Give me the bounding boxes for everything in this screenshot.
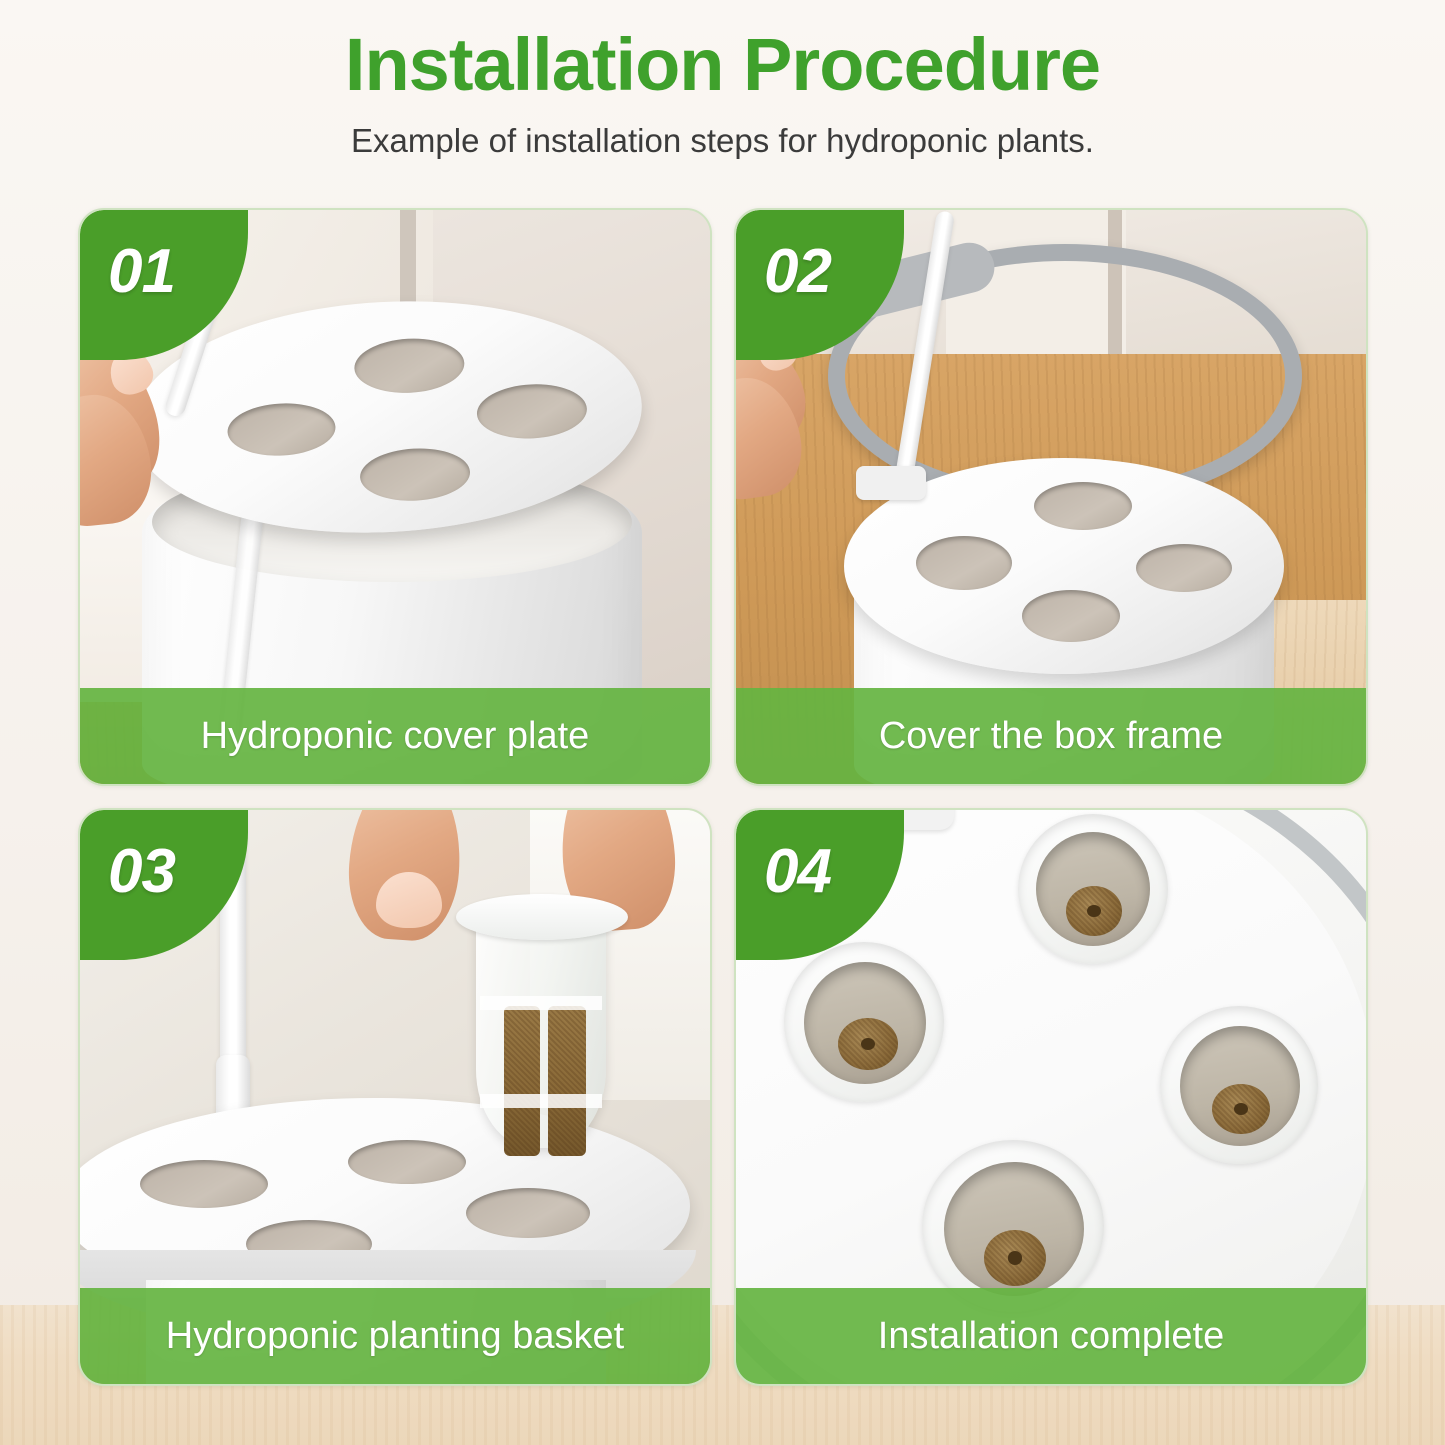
header: Installation Procedure Example of instal…: [0, 28, 1445, 160]
step-caption-bar-03: Hydroponic planting basket: [80, 1288, 710, 1384]
steps-grid: 01 Hydroponic cover plate: [78, 208, 1368, 1386]
sponge-plug-left: [504, 1006, 540, 1156]
plate-hole-3: [476, 382, 589, 442]
page-subtitle: Example of installation steps for hydrop…: [0, 122, 1445, 160]
step-caption-text-03: Hydroponic planting basket: [166, 1315, 624, 1358]
step-caption-text-04: Installation complete: [878, 1315, 1224, 1358]
basket-rim: [456, 894, 628, 940]
step-number-04: 04: [764, 836, 831, 907]
plate-hole-4: [359, 446, 472, 504]
step-card-01[interactable]: 01 Hydroponic cover plate: [78, 208, 712, 786]
sponge-plug-3: [1212, 1084, 1270, 1134]
sponge-plug-4: [984, 1230, 1046, 1286]
step-caption-bar-04: Installation complete: [736, 1288, 1366, 1384]
pole-socket: [856, 466, 926, 500]
plate-hole-4: [466, 1188, 590, 1238]
basket-strut-1: [480, 996, 602, 1010]
step-caption-text-02: Cover the box frame: [879, 715, 1223, 758]
step-caption-bar-01: Hydroponic cover plate: [80, 688, 710, 784]
plate-hole-1: [1034, 482, 1132, 530]
step-caption-text-01: Hydroponic cover plate: [201, 715, 590, 758]
step-card-02[interactable]: 02 Cover the box frame: [734, 208, 1368, 786]
page-title: Installation Procedure: [0, 28, 1445, 102]
sponge-plug-1: [1066, 886, 1122, 936]
step-caption-bar-02: Cover the box frame: [736, 688, 1366, 784]
sponge-plug-right: [548, 1006, 586, 1156]
plate-hole-2: [916, 536, 1012, 590]
step-number-03: 03: [108, 836, 175, 907]
plate-hole-1: [353, 336, 466, 396]
basket-strut-2: [480, 1094, 602, 1108]
step-card-03[interactable]: 03 Hydroponic planting basket: [78, 808, 712, 1386]
step-number-02: 02: [764, 236, 831, 307]
step-card-04[interactable]: 04 Installation complete: [734, 808, 1368, 1386]
plate-hole-2: [226, 401, 337, 459]
plate-hole-2: [348, 1140, 466, 1184]
plate-hole-3: [1136, 544, 1232, 592]
step-number-01: 01: [108, 236, 175, 307]
plate-hole-1: [140, 1160, 268, 1208]
sponge-plug-2: [838, 1018, 898, 1070]
plate-hole-4: [1022, 590, 1120, 642]
